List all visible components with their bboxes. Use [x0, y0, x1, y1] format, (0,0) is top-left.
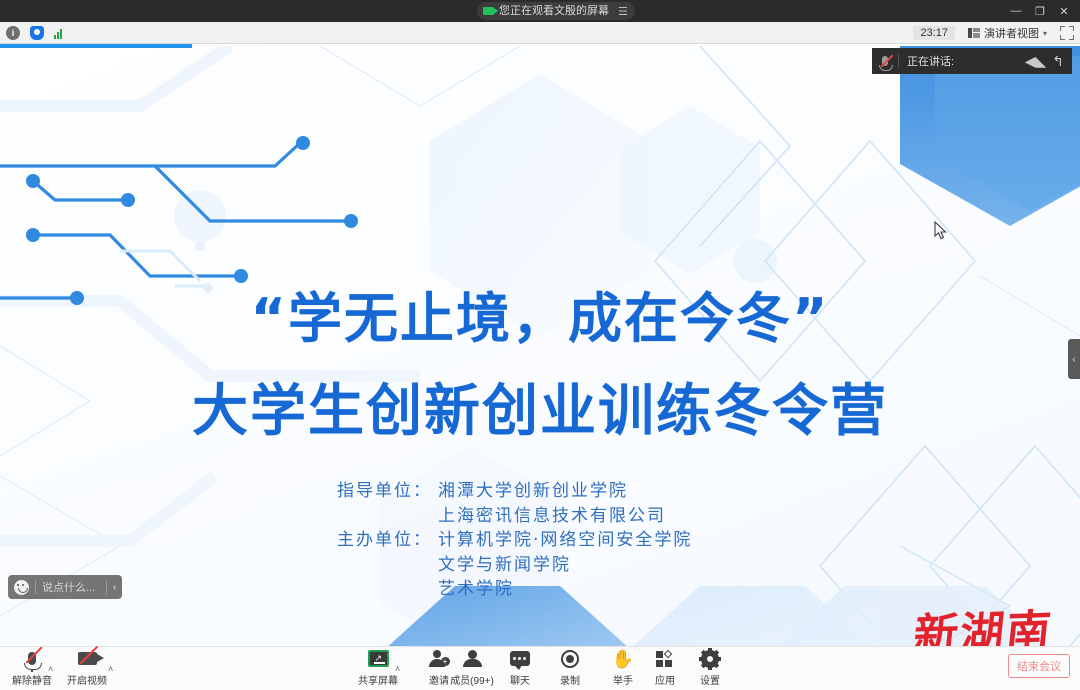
organization-label — [337, 504, 438, 529]
window-title-bar: 您正在观看文殷的屏幕 ☰ — ❐ ✕ — [0, 0, 1080, 22]
chat-button[interactable]: 聊天 — [492, 647, 548, 687]
organization-label — [337, 577, 438, 602]
accent-progress-bar — [0, 44, 192, 48]
organization-row: 艺术学院 — [337, 577, 692, 602]
organization-value: 艺术学院 — [438, 577, 514, 602]
meeting-toolbar: 解除静音 ˄ 开启视频 ˄ ↗ 共享屏幕 ˄ + 邀请 成员(99+) 聊天 录 — [0, 646, 1080, 690]
return-arrow-icon[interactable]: ↰ — [1052, 53, 1064, 70]
start-video-label: 开启视频 — [67, 672, 107, 687]
raise-hand-icon: ✋ — [612, 648, 634, 669]
apps-grid-icon — [656, 648, 675, 669]
hamburger-icon[interactable]: ☰ — [618, 5, 627, 18]
mic-muted-icon — [872, 56, 898, 66]
organization-label: 主办单位： — [337, 528, 438, 553]
panel-collapse-tab[interactable]: ‹ — [1068, 339, 1080, 379]
audio-options-caret[interactable]: ˄ — [48, 664, 53, 674]
emoji-icon[interactable] — [14, 580, 29, 595]
end-meeting-button[interactable]: 结束会议 — [1008, 654, 1070, 678]
record-button[interactable]: 录制 — [542, 647, 598, 687]
minimize-button[interactable]: — — [1004, 0, 1028, 22]
quick-chat-input-bar[interactable]: 说点什么... ‹ — [8, 575, 122, 599]
participants-label: 成员(99+) — [450, 672, 494, 687]
organization-label: 指导单位： — [337, 479, 438, 504]
share-screen-icon: ↗ — [368, 648, 389, 669]
fullscreen-icon[interactable] — [1060, 26, 1074, 40]
share-screen-label: 共享屏幕 — [358, 672, 398, 687]
organization-label — [337, 553, 438, 578]
active-speaker-panel: 正在讲话: ◀◣ ↰ — [872, 48, 1072, 74]
chevron-down-icon: ▾ — [1043, 29, 1047, 38]
unmute-label: 解除静音 — [12, 672, 52, 687]
toolbar-status-icons: i — [6, 22, 62, 44]
settings-button[interactable]: 设置 — [682, 647, 738, 687]
start-video-button[interactable]: 开启视频 — [59, 647, 115, 687]
slide-title-line-2: 大学生创新创业训练冬令营 — [0, 366, 1080, 447]
app-toolbar: i 23:17 演讲者视图 ▾ — [0, 22, 1080, 44]
toolbar-right-controls: 23:17 演讲者视图 ▾ — [913, 22, 1074, 44]
close-button[interactable]: ✕ — [1052, 0, 1076, 22]
divider — [35, 581, 36, 594]
screen-share-notice-label: 您正在观看文殷的屏幕 — [499, 2, 609, 20]
organization-row: 指导单位： 湘潭大学创新创业学院 — [337, 479, 692, 504]
apps-label: 应用 — [655, 672, 675, 687]
window-controls: — ❐ ✕ — [1004, 0, 1076, 22]
view-mode-label: 演讲者视图 — [984, 25, 1039, 41]
mic-muted-icon — [28, 648, 36, 669]
network-signal-icon[interactable] — [54, 28, 62, 39]
organization-row: 主办单位： 计算机学院·网络空间安全学院 — [337, 528, 692, 553]
organization-value: 上海密讯信息技术有限公司 — [438, 504, 666, 529]
screen-share-camera-icon — [483, 7, 494, 15]
raise-hand-label: 举手 — [613, 672, 633, 687]
video-options-caret[interactable]: ˄ — [108, 664, 113, 674]
camera-off-icon — [78, 648, 97, 669]
slide-organizations: 指导单位： 湘潭大学创新创业学院 上海密讯信息技术有限公司 主办单位： 计算机学… — [337, 479, 692, 602]
divider — [106, 581, 107, 594]
speaker-panel-icons: ◀◣ ↰ — [1025, 53, 1072, 70]
chat-collapse-icon[interactable]: ‹ — [113, 582, 116, 593]
view-mode-selector[interactable]: 演讲者视图 ▾ — [963, 24, 1052, 42]
participants-icon — [462, 648, 483, 669]
share-options-caret[interactable]: ˄ — [395, 664, 400, 674]
chat-bubble-icon — [510, 648, 530, 669]
active-speaker-label: 正在讲话: — [907, 53, 1025, 69]
organization-row: 上海密讯信息技术有限公司 — [337, 504, 692, 529]
record-label: 录制 — [560, 672, 580, 687]
security-shield-icon[interactable] — [30, 26, 44, 40]
mouse-cursor — [934, 221, 948, 241]
divider — [898, 54, 899, 68]
volume-icon[interactable]: ◀◣ — [1025, 53, 1047, 70]
shared-screen-slide: “学无止境，成在今冬” 大学生创新创业训练冬令营 指导单位： 湘潭大学创新创业学… — [0, 46, 1080, 690]
organization-value: 计算机学院·网络空间安全学院 — [438, 528, 692, 553]
info-icon[interactable]: i — [6, 26, 20, 40]
slide-title-line-1: “学无止境，成在今冬” — [0, 274, 1080, 353]
organization-value: 文学与新闻学院 — [438, 553, 571, 578]
gear-icon — [701, 648, 719, 669]
speaker-view-icon — [968, 28, 980, 38]
restore-button[interactable]: ❐ — [1028, 0, 1052, 22]
chat-label: 聊天 — [510, 672, 530, 687]
screen-share-notice[interactable]: 您正在观看文殷的屏幕 ☰ — [477, 2, 635, 20]
chat-input[interactable]: 说点什么... — [42, 579, 100, 595]
organization-row: 文学与新闻学院 — [337, 553, 692, 578]
meeting-clock: 23:17 — [913, 26, 955, 40]
record-icon — [561, 648, 579, 669]
settings-label: 设置 — [700, 672, 720, 687]
organization-value: 湘潭大学创新创业学院 — [438, 479, 628, 504]
